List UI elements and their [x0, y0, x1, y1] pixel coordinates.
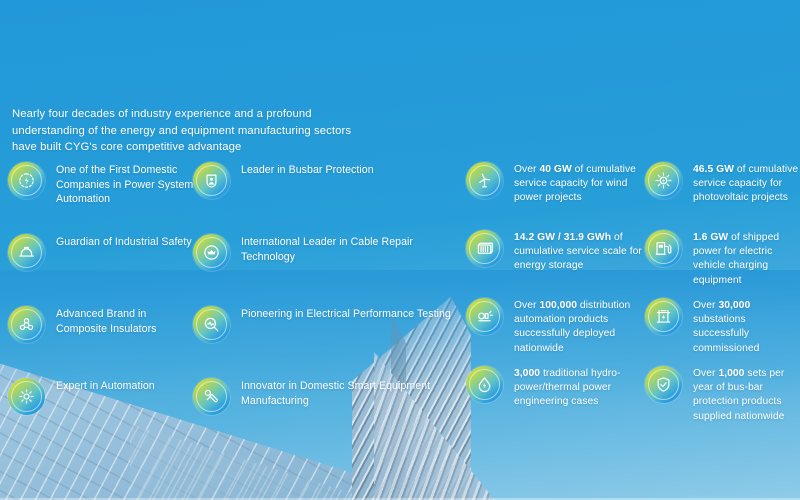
bus-bar-shield-icon — [645, 366, 682, 403]
stats-column-1: Over 40 GW of cumulative service capacit… — [466, 162, 646, 434]
ev-charging-station-icon — [645, 230, 682, 267]
feature-item[interactable]: International Leader in Cable Repair Tec… — [193, 234, 455, 288]
feature-item-label: Over 30,000 substations successfully com… — [693, 298, 800, 356]
feature-item[interactable]: Leader in Busbar Protection — [193, 162, 455, 216]
feature-item[interactable]: Innovator in Domestic Smart Equipment Ma… — [193, 378, 455, 432]
composite-insulator-icon — [8, 306, 45, 343]
feature-item-label: Pioneering in Electrical Performance Tes… — [241, 306, 451, 322]
distribution-automation-icon — [466, 298, 503, 335]
feature-item[interactable]: Over 30,000 substations successfully com… — [645, 298, 800, 352]
feature-item-label: Advanced Brand in Composite Insulators — [56, 306, 194, 336]
feature-item[interactable]: Advanced Brand in Composite Insulators — [8, 306, 194, 360]
stat-value: 1.6 GW — [693, 232, 728, 243]
stat-value: 30,000 — [718, 300, 750, 311]
feature-item[interactable]: Over 1,000 sets per year of bus-bar prot… — [645, 366, 800, 420]
feature-item[interactable]: Pioneering in Electrical Performance Tes… — [193, 306, 455, 360]
wind-turbine-icon — [466, 162, 503, 199]
feature-item[interactable]: Guardian of Industrial Safety — [8, 234, 194, 288]
stat-value: 1,000 — [718, 368, 744, 379]
feature-item-label: 46.5 GW of cumulative service capacity f… — [693, 162, 800, 206]
energy-storage-battery-icon — [466, 230, 503, 267]
power-system-gear-icon — [8, 162, 45, 199]
feature-item-label: 1.6 GW of shipped power for electric veh… — [693, 230, 800, 288]
feature-item-label: 14.2 GW / 31.9 GWh of cumulative service… — [514, 230, 646, 274]
feature-item[interactable]: 46.5 GW of cumulative service capacity f… — [645, 162, 800, 216]
stats-column-2: 46.5 GW of cumulative service capacity f… — [645, 162, 800, 434]
feature-item-label: International Leader in Cable Repair Tec… — [241, 234, 455, 264]
feature-item[interactable]: Over 40 GW of cumulative service capacit… — [466, 162, 646, 216]
intro-paragraph: Nearly four decades of industry experien… — [12, 106, 372, 156]
feature-item[interactable]: 1.6 GW of shipped power for electric veh… — [645, 230, 800, 284]
feature-item-label: Over 100,000 distribution automation pro… — [514, 298, 646, 356]
feature-item-label: Over 1,000 sets per year of bus-bar prot… — [693, 366, 800, 424]
feature-item-label: Expert in Automation — [56, 378, 155, 394]
substation-icon — [645, 298, 682, 335]
electrical-testing-magnifier-icon — [193, 306, 230, 343]
stat-value: 100,000 — [539, 300, 577, 311]
feature-item-label: One of the First Domestic Companies in P… — [56, 162, 194, 207]
cable-repair-crown-icon — [193, 234, 230, 271]
feature-item-label: Leader in Busbar Protection — [241, 162, 374, 178]
stat-value: 46.5 GW — [693, 164, 734, 175]
hydro-power-drop-icon — [466, 366, 503, 403]
feature-item[interactable]: Expert in Automation — [8, 378, 194, 432]
smart-equipment-tool-icon — [193, 378, 230, 415]
feature-column-2: Leader in Busbar ProtectionInternational… — [193, 162, 455, 450]
stat-value: 3,000 — [514, 368, 540, 379]
safety-helmet-icon — [8, 234, 45, 271]
automation-cog-icon — [8, 378, 45, 415]
feature-item[interactable]: 14.2 GW / 31.9 GWh of cumulative service… — [466, 230, 646, 284]
feature-item-label: Guardian of Industrial Safety — [56, 234, 192, 250]
feature-item-label: Innovator in Domestic Smart Equipment Ma… — [241, 378, 455, 408]
stat-value: 14.2 GW / 31.9 GWh — [514, 232, 611, 243]
feature-item-label: 3,000 traditional hydro-power/thermal po… — [514, 366, 646, 410]
feature-item[interactable]: Over 100,000 distribution automation pro… — [466, 298, 646, 352]
busbar-protection-icon — [193, 162, 230, 199]
solar-sun-icon — [645, 162, 682, 199]
feature-column-1: One of the First Domestic Companies in P… — [8, 162, 194, 450]
feature-item[interactable]: 3,000 traditional hydro-power/thermal po… — [466, 366, 646, 420]
stat-value: 40 GW — [539, 164, 571, 175]
feature-item-label: Over 40 GW of cumulative service capacit… — [514, 162, 646, 206]
feature-item[interactable]: One of the First Domestic Companies in P… — [8, 162, 194, 216]
